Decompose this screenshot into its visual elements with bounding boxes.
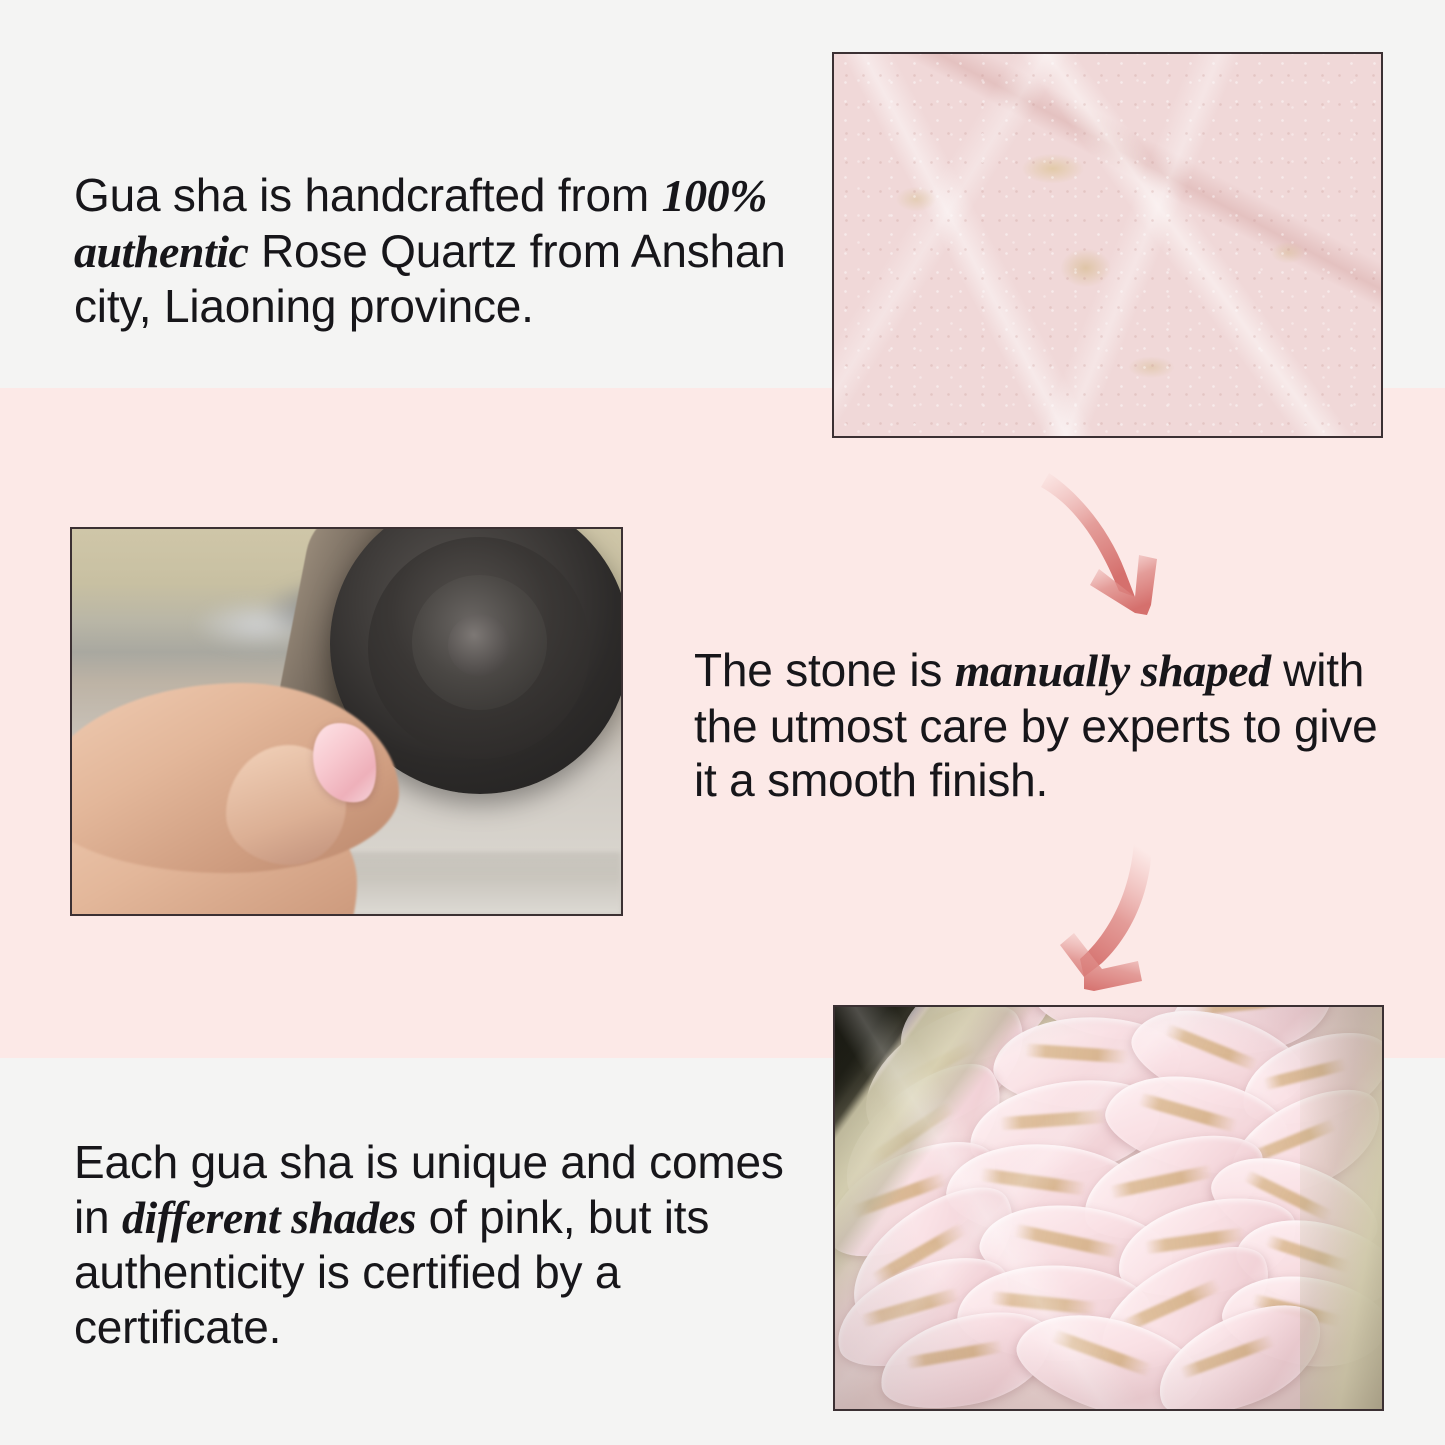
rose-quartz-photo-inner [834, 54, 1381, 436]
arrow-shaping-to-uniqueness-icon [1040, 835, 1210, 1010]
uniqueness-caption-emphasis: different shades [122, 1192, 416, 1243]
finished-gua-sha-batch-photo [833, 1005, 1384, 1411]
batch-vignette [835, 1007, 1382, 1409]
shaping-caption-emphasis: manually shaped [955, 645, 1271, 696]
origin-caption-lead: Gua sha is handcrafted from [74, 169, 662, 221]
shaping-caption: The stone is manually shaped with the ut… [694, 643, 1404, 808]
grinding-wheel-hub [448, 614, 510, 676]
crafting-photo-inner [72, 529, 621, 914]
artisan-grinding-stone-photo [70, 527, 623, 916]
shaping-caption-lead: The stone is [694, 644, 955, 696]
quartz-speckle-overlay [834, 54, 1381, 436]
rose-quartz-raw-stone-photo [832, 52, 1383, 438]
origin-caption: Gua sha is handcrafted from 100% authent… [74, 168, 804, 334]
arrow-origin-to-shaping-icon [1035, 455, 1205, 630]
uniqueness-caption: Each gua sha is unique and comes in diff… [74, 1135, 814, 1355]
batch-photo-inner [835, 1007, 1382, 1409]
infographic-canvas: Gua sha is handcrafted from 100% authent… [0, 0, 1445, 1445]
